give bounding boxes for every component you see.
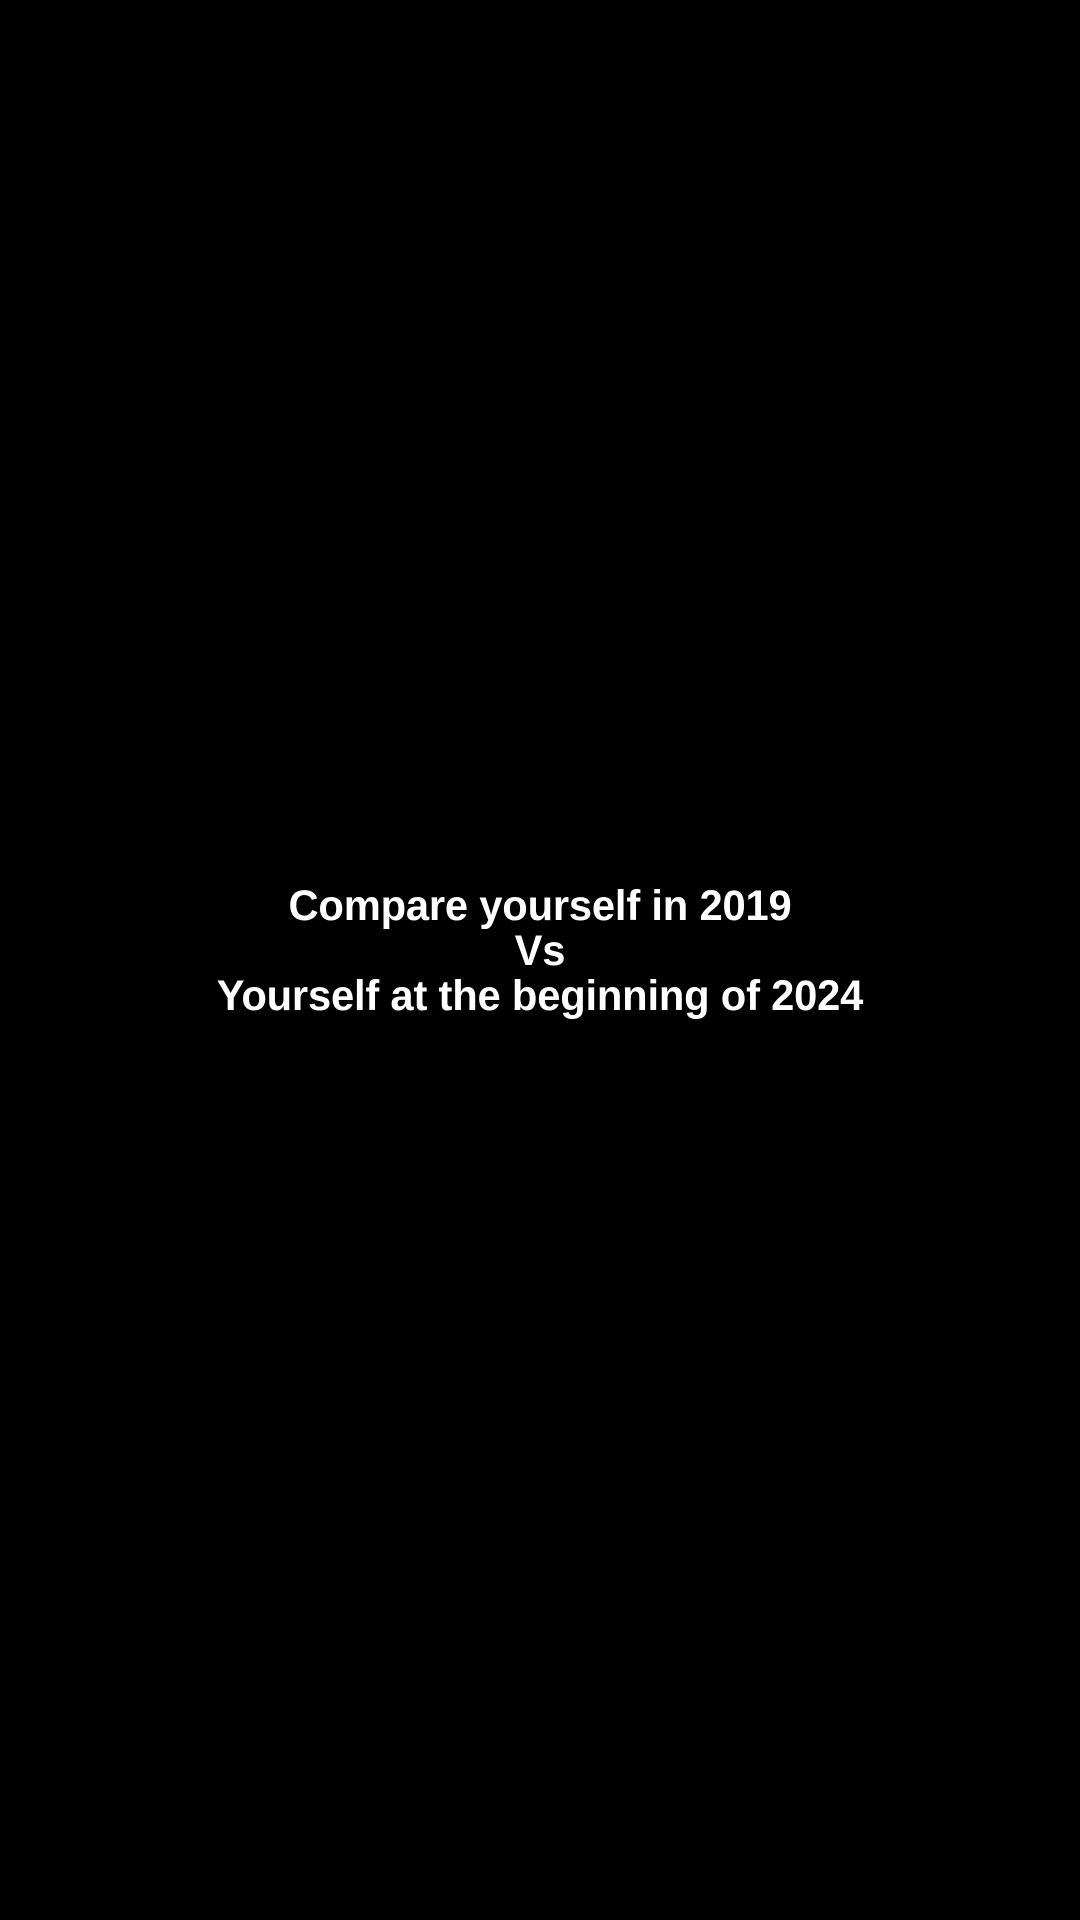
caption-line-3: Yourself at the beginning of 2024 <box>16 974 1064 1019</box>
caption-text-block: Compare yourself in 2019 Vs Yourself at … <box>0 884 1080 1019</box>
caption-line-1: Compare yourself in 2019 <box>16 884 1064 929</box>
caption-line-vs: Vs <box>16 929 1064 974</box>
video-caption-canvas: Compare yourself in 2019 Vs Yourself at … <box>0 0 1080 1920</box>
